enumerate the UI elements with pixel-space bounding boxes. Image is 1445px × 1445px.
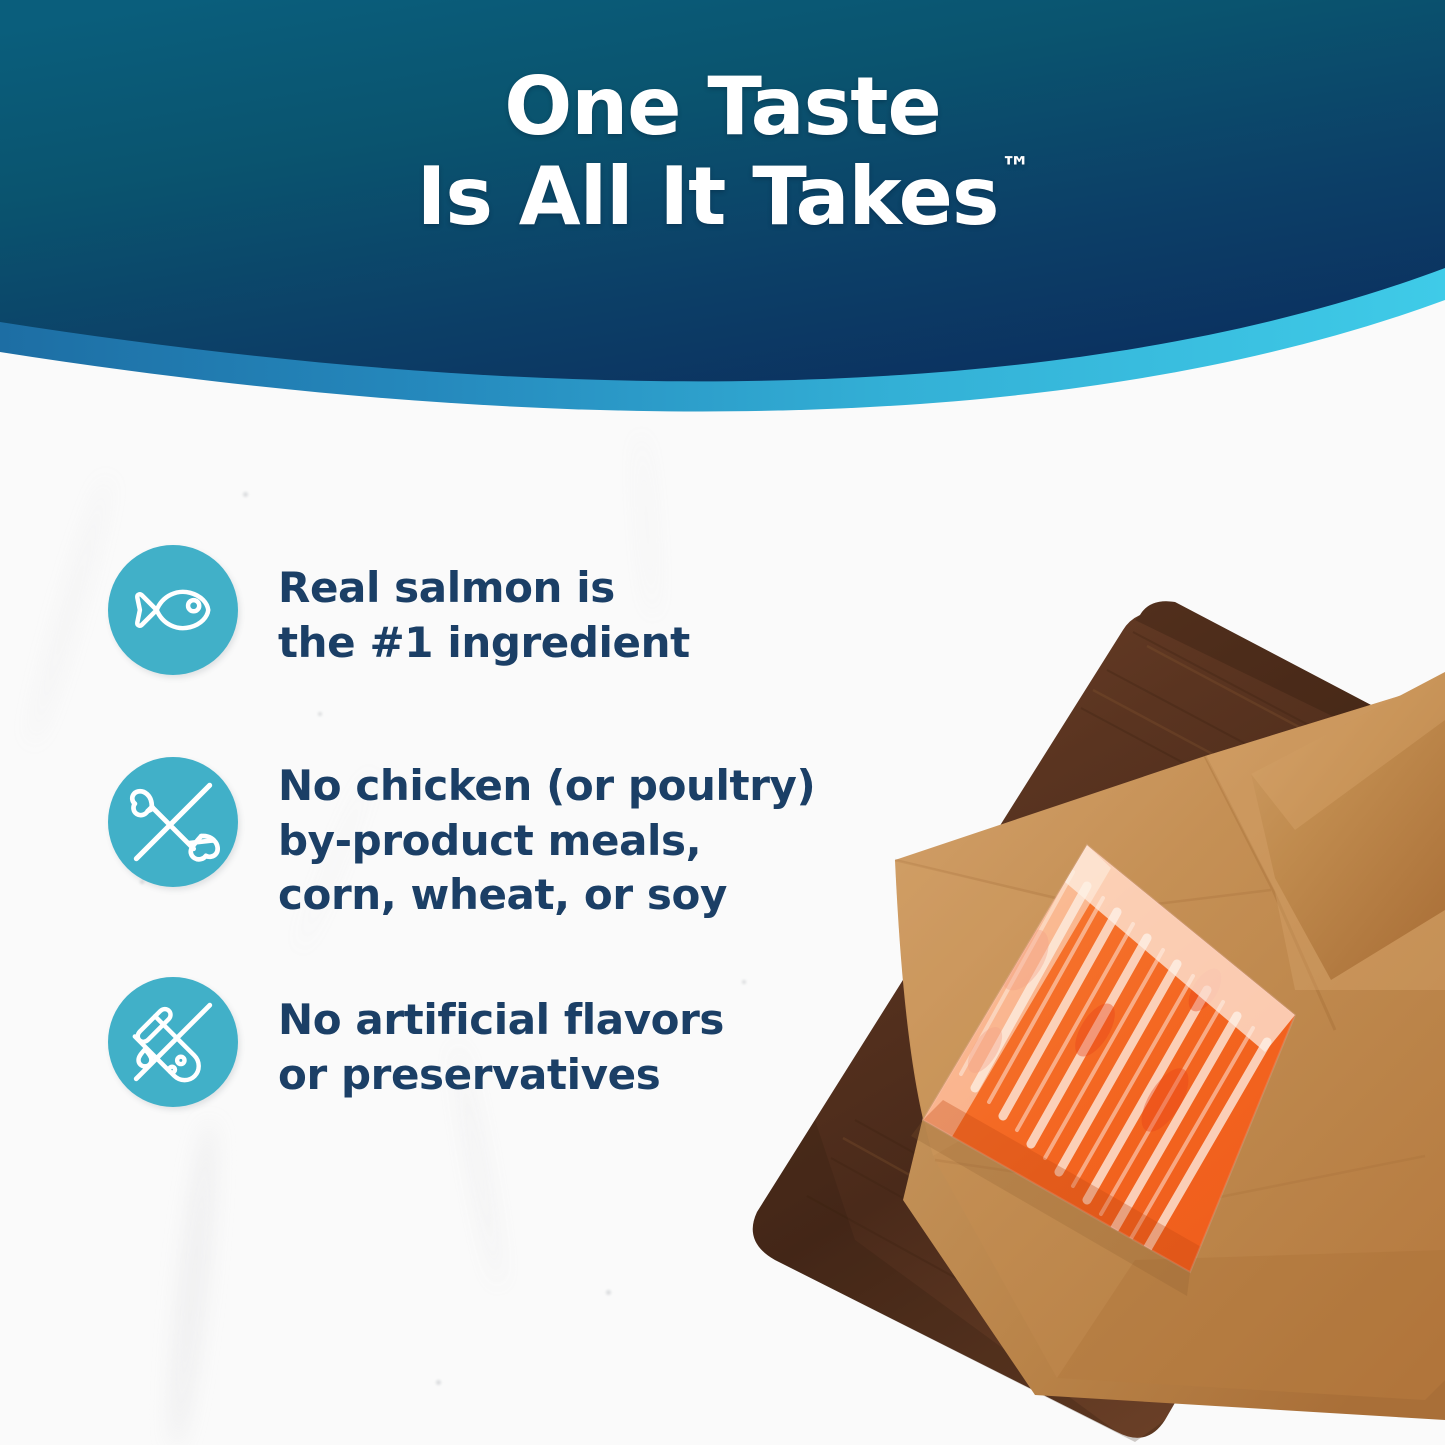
list-item: No chicken (or poultry) by-product meals… [108, 757, 815, 923]
headline-line-1: One Taste [504, 60, 940, 153]
list-item: Real salmon is the #1 ingredient [108, 545, 690, 675]
promo-image-canvas: One Taste Is All It Takes™ Real salmon i… [0, 0, 1445, 1445]
marble-speck [436, 1380, 441, 1385]
page-title: One Taste Is All It Takes™ [0, 62, 1445, 241]
marble-speck [606, 1290, 611, 1295]
header-banner: One Taste Is All It Takes™ [0, 0, 1445, 440]
fish-icon [108, 545, 238, 675]
marble-vein [163, 1120, 223, 1445]
marble-vein [22, 473, 118, 748]
marble-speck [243, 492, 248, 497]
list-item: No artificial flavors or preservatives [108, 977, 724, 1107]
headline-line-2: Is All It Takes [417, 150, 999, 243]
list-item-label: No artificial flavors or preservatives [278, 977, 724, 1102]
trademark-symbol: ™ [1000, 151, 1030, 186]
marble-speck [318, 712, 322, 716]
headline-line-2-wrap: Is All It Takes™ [0, 152, 1445, 242]
no-test-tube-icon [108, 977, 238, 1107]
no-bone-icon [108, 757, 238, 887]
list-item-label: Real salmon is the #1 ingredient [278, 545, 690, 670]
salmon-product-photo [735, 560, 1445, 1445]
